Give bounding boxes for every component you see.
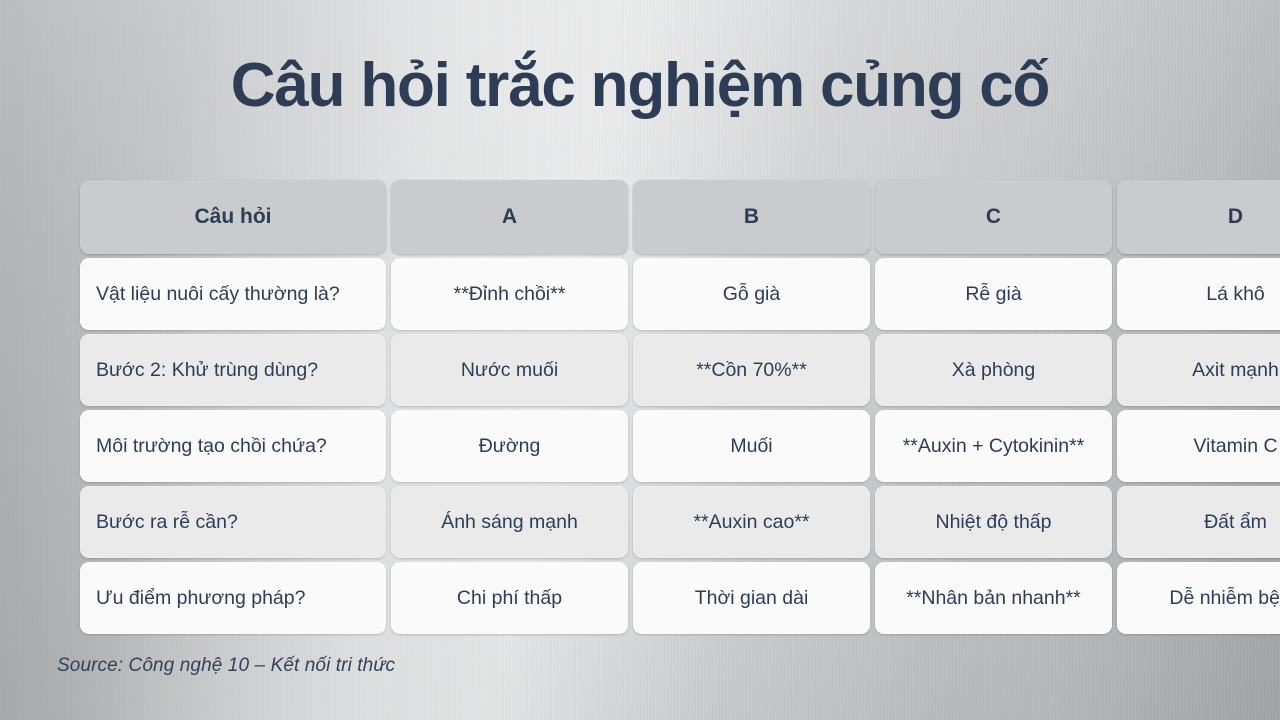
- table-row: Bước 2: Khử trùng dùng? Nước muối **Cồn …: [80, 334, 1280, 406]
- cell-question: Vật liệu nuôi cấy thường là?: [80, 258, 386, 330]
- source-note: Source: Công nghệ 10 – Kết nối tri thức: [57, 655, 395, 677]
- cell-option-a: Ánh sáng mạnh: [391, 486, 628, 558]
- cell-option-b: **Auxin cao**: [633, 486, 870, 558]
- cell-option-a: Chi phí thấp: [391, 562, 628, 634]
- cell-option-a: **Đỉnh chồi**: [391, 258, 628, 330]
- cell-question: Ưu điểm phương pháp?: [80, 562, 386, 634]
- cell-option-c: **Nhân bản nhanh**: [875, 562, 1112, 634]
- column-header-a: A: [391, 180, 628, 254]
- table-row: Bước ra rễ cần? Ánh sáng mạnh **Auxin ca…: [80, 486, 1280, 558]
- cell-option-d: Lá khô: [1117, 258, 1280, 330]
- cell-option-d: Vitamin C: [1117, 410, 1280, 482]
- column-header-d: D: [1117, 180, 1280, 254]
- cell-question: Bước 2: Khử trùng dùng?: [80, 334, 386, 406]
- cell-option-d: Dễ nhiễm bệnh: [1117, 562, 1280, 634]
- table-row: Môi trường tạo chồi chứa? Đường Muối **A…: [80, 410, 1280, 482]
- column-header-question: Câu hỏi: [80, 180, 386, 254]
- cell-question: Bước ra rễ cần?: [80, 486, 386, 558]
- cell-option-a: Đường: [391, 410, 628, 482]
- column-header-b: B: [633, 180, 870, 254]
- quiz-table: Câu hỏi A B C D Vật liệu nuôi cấy thường…: [75, 176, 1280, 638]
- cell-option-d: Đất ẩm: [1117, 486, 1280, 558]
- cell-option-b: Thời gian dài: [633, 562, 870, 634]
- slide-canvas: Câu hỏi trắc nghiệm củng cố Câu hỏi A B …: [0, 0, 1280, 720]
- cell-option-c: **Auxin + Cytokinin**: [875, 410, 1112, 482]
- cell-option-a: Nước muối: [391, 334, 628, 406]
- cell-option-c: Rễ già: [875, 258, 1112, 330]
- cell-option-d: Axit mạnh: [1117, 334, 1280, 406]
- table-header-row: Câu hỏi A B C D: [80, 180, 1280, 254]
- cell-option-c: Xà phòng: [875, 334, 1112, 406]
- cell-option-c: Nhiệt độ thấp: [875, 486, 1112, 558]
- table-row: Vật liệu nuôi cấy thường là? **Đỉnh chồi…: [80, 258, 1280, 330]
- cell-option-b: Muối: [633, 410, 870, 482]
- quiz-table-container: Câu hỏi A B C D Vật liệu nuôi cấy thường…: [75, 176, 1206, 638]
- table-row: Ưu điểm phương pháp? Chi phí thấp Thời g…: [80, 562, 1280, 634]
- table-header: Câu hỏi A B C D: [80, 180, 1280, 254]
- table-body: Vật liệu nuôi cấy thường là? **Đỉnh chồi…: [80, 258, 1280, 634]
- column-header-c: C: [875, 180, 1112, 254]
- cell-question: Môi trường tạo chồi chứa?: [80, 410, 386, 482]
- page-title: Câu hỏi trắc nghiệm củng cố: [0, 52, 1280, 120]
- cell-option-b: **Cồn 70%**: [633, 334, 870, 406]
- cell-option-b: Gỗ già: [633, 258, 870, 330]
